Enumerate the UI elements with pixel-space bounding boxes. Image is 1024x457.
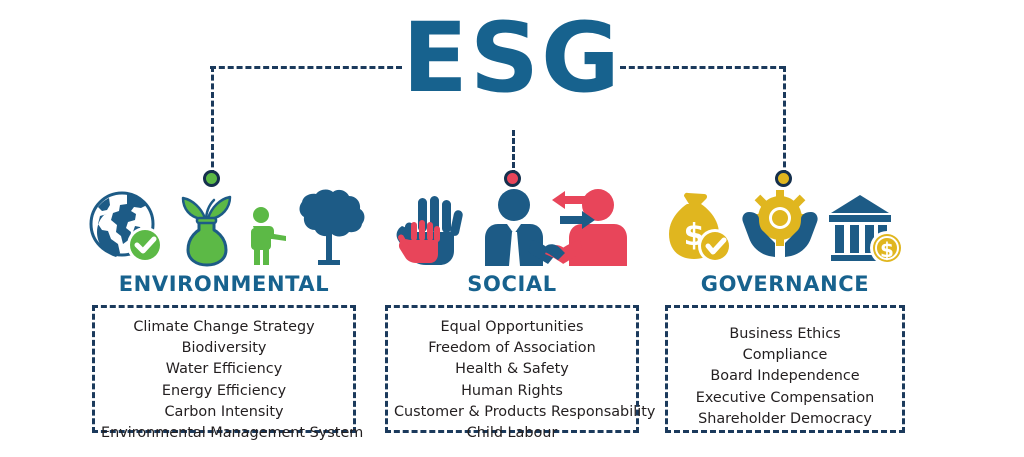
- social-icon-row: [385, 186, 639, 266]
- node-dot-social: [504, 170, 521, 187]
- hands-icon: [392, 196, 466, 266]
- node-dot-environmental: [203, 170, 220, 187]
- list-item: Human Rights: [394, 381, 630, 402]
- list-item: Executive Compensation: [674, 388, 896, 409]
- list-item: Carbon Intensity: [101, 402, 347, 423]
- list-item: Energy Efficiency: [101, 381, 347, 402]
- list-item: Compliance: [674, 345, 896, 366]
- pillar-heading-governance: GOVERNANCE: [665, 272, 905, 296]
- connector-line-left-horizontal: [210, 66, 402, 69]
- list-box-social: Equal Opportunities Freedom of Associati…: [385, 305, 639, 433]
- list-item: Environmental Management System: [101, 423, 347, 444]
- list-item: Equal Opportunities: [394, 317, 630, 338]
- environmental-icon-row: [92, 186, 356, 266]
- tree-icon: [296, 188, 362, 266]
- list-item: Biodiversity: [101, 338, 347, 359]
- pillar-social: SOCIAL Equal Opportunities Freedom of As…: [385, 186, 639, 433]
- pillar-environmental: ENVIRONMENTAL Climate Change Strategy Bi…: [92, 186, 356, 433]
- list-item: Board Independence: [674, 366, 896, 387]
- list-item: Climate Change Strategy: [101, 317, 347, 338]
- connector-line-right-horizontal: [620, 66, 785, 69]
- flask-plant-icon: [175, 188, 237, 266]
- connector-line-env-vertical: [211, 66, 214, 176]
- connector-line-gov-vertical: [783, 66, 786, 176]
- governance-icon-row: $: [665, 186, 905, 266]
- pillar-governance: $: [665, 186, 905, 433]
- money-bag-check-icon: $: [667, 190, 733, 266]
- pillar-heading-social: SOCIAL: [385, 272, 639, 296]
- list-box-governance: Business Ethics Compliance Board Indepen…: [665, 305, 905, 433]
- esg-infographic: ESG: [0, 0, 1024, 457]
- handshake-exchange-icon: [480, 188, 632, 266]
- person-icon: [247, 206, 289, 266]
- node-dot-governance: [775, 170, 792, 187]
- page-title: ESG: [0, 8, 1024, 109]
- list-item: Child Labour: [394, 423, 630, 444]
- list-box-environmental: Climate Change Strategy Biodiversity Wat…: [92, 305, 356, 433]
- list-item: Business Ethics: [674, 324, 896, 345]
- list-item: Water Efficiency: [101, 359, 347, 380]
- svg-text:$: $: [880, 238, 894, 262]
- list-item: Shareholder Democracy: [674, 409, 896, 430]
- list-item: Customer & Products Responsability: [394, 402, 630, 423]
- bank-coin-icon: $: [827, 192, 903, 266]
- list-item: Health & Safety: [394, 359, 630, 380]
- list-item: Freedom of Association: [394, 338, 630, 359]
- globe-check-icon: [87, 190, 165, 266]
- hands-gear-icon: [741, 190, 819, 266]
- pillar-heading-environmental: ENVIRONMENTAL: [92, 272, 356, 296]
